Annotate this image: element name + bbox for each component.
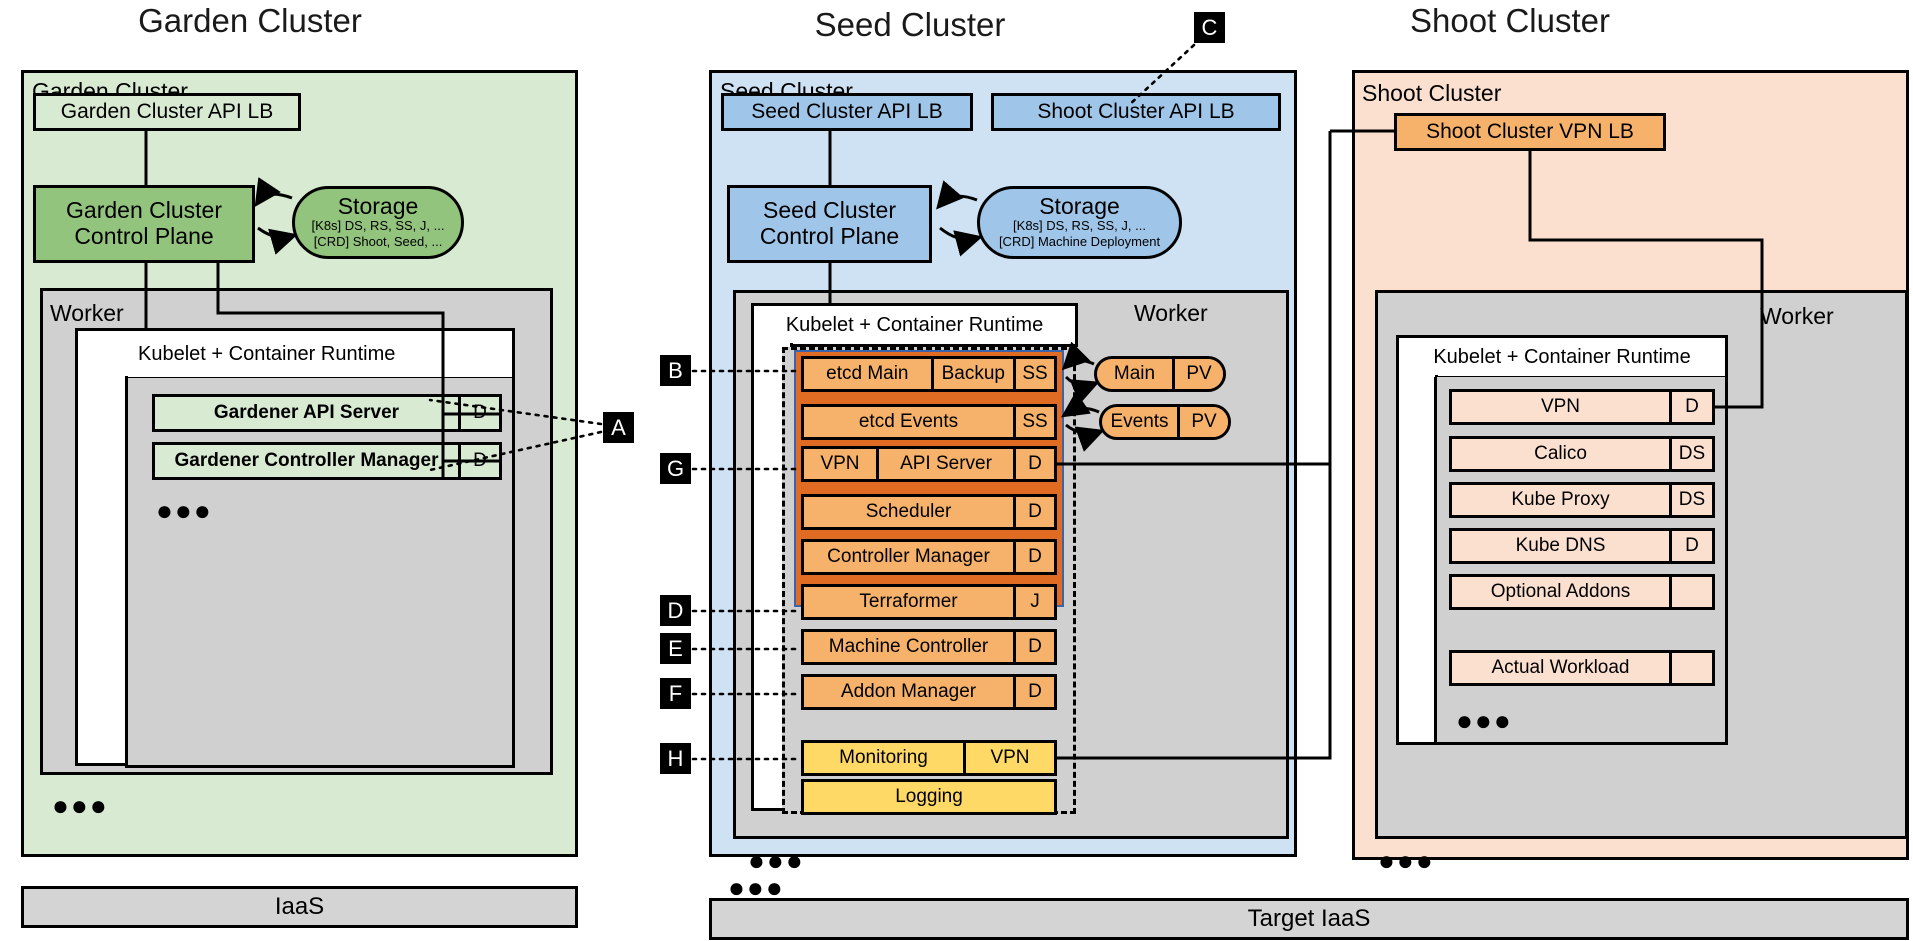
seed-extra-pod-1-segment-0: Logging bbox=[804, 782, 1054, 812]
seed-pod-7-tag: D bbox=[1013, 677, 1054, 707]
seed-extra-pod-1[interactable]: Logging bbox=[801, 779, 1057, 815]
marker-h[interactable]: H bbox=[660, 743, 691, 774]
seed-pod-6-segment-0: Machine Controller bbox=[804, 632, 1013, 662]
garden-pod-1[interactable]: Gardener Controller Manager D bbox=[152, 442, 502, 480]
seed-pod-3[interactable]: Scheduler D bbox=[801, 494, 1057, 530]
seed-pod-4[interactable]: Controller Manager D bbox=[801, 539, 1057, 575]
garden-worker-label: Worker bbox=[50, 300, 124, 327]
seed-worker-ellipsis: ●●● bbox=[748, 855, 805, 866]
marker-d[interactable]: D bbox=[660, 595, 691, 626]
garden-pod-0-name: Gardener API Server bbox=[155, 397, 458, 429]
seed-extra-pod-0-segment-0: Monitoring bbox=[804, 743, 963, 773]
seed-volume-0-tag: PV bbox=[1172, 359, 1223, 389]
seed-pod-0-tag: SS bbox=[1013, 359, 1054, 389]
shoot-pod-0-name: VPN bbox=[1452, 392, 1669, 422]
seed-control-plane[interactable]: Seed Cluster Control Plane bbox=[727, 185, 932, 263]
garden-storage-line1: [K8s] DS, RS, SS, J, ... bbox=[312, 218, 445, 234]
shoot-pod-4[interactable]: Optional Addons bbox=[1449, 574, 1715, 610]
seed-extra-pod-0-segment-1: VPN bbox=[963, 743, 1054, 773]
garden-kubelet-runtime: Kubelet + Container Runtime bbox=[75, 328, 515, 380]
seed-pod-6-tag: D bbox=[1013, 632, 1054, 662]
shoot-pod-1-name: Calico bbox=[1452, 439, 1669, 469]
shoot-pod-3[interactable]: Kube DNS D bbox=[1449, 528, 1715, 564]
seed-volume-1-tag: PV bbox=[1177, 407, 1228, 437]
shoot-pods-ellipsis: ●●● bbox=[1456, 715, 1513, 726]
shoot-workload-name: Actual Workload bbox=[1452, 653, 1669, 683]
seed-pod-4-tag: D bbox=[1013, 542, 1054, 572]
seed-storage-title: Storage bbox=[1039, 195, 1120, 218]
seed-volume-1[interactable]: Events PV bbox=[1099, 404, 1231, 440]
seed-pod-5[interactable]: Terraformer J bbox=[801, 584, 1057, 620]
shoot-pod-2-name: Kube Proxy bbox=[1452, 485, 1669, 515]
shoot-pod-2[interactable]: Kube Proxy DS bbox=[1449, 482, 1715, 518]
marker-g[interactable]: G bbox=[660, 453, 691, 484]
shoot-cluster-ellipsis: ●●● bbox=[1378, 855, 1435, 866]
seed-control-plane-line2: Control Plane bbox=[760, 224, 899, 250]
seed-storage-line1: [K8s] DS, RS, SS, J, ... bbox=[1013, 218, 1146, 234]
marker-c[interactable]: C bbox=[1194, 12, 1225, 43]
marker-f[interactable]: F bbox=[660, 678, 691, 709]
shoot-cluster-title: Shoot Cluster bbox=[1360, 2, 1660, 40]
seed-volume-0[interactable]: Main PV bbox=[1094, 356, 1226, 392]
shoot-pod-1-tag: DS bbox=[1669, 439, 1712, 469]
garden-pod-0[interactable]: Gardener API Server D bbox=[152, 394, 502, 432]
garden-iaas-label: IaaS bbox=[275, 893, 324, 921]
shoot-pod-3-tag: D bbox=[1669, 531, 1712, 561]
shoot-pod-4-name: Optional Addons bbox=[1452, 577, 1669, 607]
seed-extra-pod-0[interactable]: Monitoring VPN bbox=[801, 740, 1057, 776]
seed-pod-4-segment-0: Controller Manager bbox=[804, 542, 1013, 572]
garden-pod-1-name: Gardener Controller Manager bbox=[155, 445, 458, 477]
seed-control-plane-line1: Seed Cluster bbox=[763, 198, 896, 224]
shoot-cluster-panel-label: Shoot Cluster bbox=[1362, 80, 1501, 107]
marker-e[interactable]: E bbox=[660, 633, 691, 664]
shoot-workload[interactable]: Actual Workload bbox=[1449, 650, 1715, 686]
garden-iaas: IaaS bbox=[21, 886, 578, 928]
garden-storage-title: Storage bbox=[338, 195, 419, 218]
seed-kubelet-label: Kubelet + Container Runtime bbox=[786, 314, 1043, 337]
seed-pod-1[interactable]: etcd Events SS bbox=[801, 404, 1057, 440]
garden-pods-ellipsis: ●●● bbox=[156, 505, 213, 516]
seed-storage[interactable]: Storage [K8s] DS, RS, SS, J, ... [CRD] M… bbox=[977, 186, 1182, 259]
seed-iaas: Target IaaS bbox=[709, 898, 1909, 940]
seed-volume-0-name: Main bbox=[1097, 359, 1172, 389]
seed-pod-0-segment-0: etcd Main bbox=[804, 359, 931, 389]
garden-storage-line2: [CRD] Shoot, Seed, ... bbox=[314, 234, 443, 250]
seed-pod-7[interactable]: Addon Manager D bbox=[801, 674, 1057, 710]
garden-control-plane-line2: Control Plane bbox=[74, 224, 213, 250]
seed-api-lb-label: Seed Cluster API LB bbox=[751, 100, 942, 124]
seed-kubelet-runtime: Kubelet + Container Runtime bbox=[751, 303, 1078, 347]
shoot-kubelet-runtime: Kubelet + Container Runtime bbox=[1396, 335, 1728, 379]
garden-worker-ellipsis: ●●● bbox=[52, 800, 109, 811]
shoot-worker-label: Worker bbox=[1760, 303, 1834, 330]
seed-pod-1-segment-0: etcd Events bbox=[804, 407, 1013, 437]
garden-pod-1-tag: D bbox=[458, 445, 499, 477]
garden-pods-container bbox=[125, 378, 515, 768]
garden-cluster-title: Garden Cluster bbox=[100, 2, 400, 40]
seed-api-lb[interactable]: Seed Cluster API LB bbox=[721, 93, 973, 131]
garden-kubelet-label: Kubelet + Container Runtime bbox=[138, 343, 395, 366]
seed-pod-2-segment-0: VPN bbox=[804, 449, 876, 479]
shoot-pod-0[interactable]: VPN D bbox=[1449, 389, 1715, 425]
seed-pod-2[interactable]: VPN API Server D bbox=[801, 446, 1057, 482]
seed-shoot-api-lb[interactable]: Shoot Cluster API LB bbox=[991, 93, 1281, 131]
seed-pod-3-segment-0: Scheduler bbox=[804, 497, 1013, 527]
garden-pod-0-tag: D bbox=[458, 397, 499, 429]
seed-pod-5-tag: J bbox=[1013, 587, 1054, 617]
seed-cluster-title: Seed Cluster bbox=[760, 6, 1060, 44]
seed-pod-6[interactable]: Machine Controller D bbox=[801, 629, 1057, 665]
shoot-pod-2-tag: DS bbox=[1669, 485, 1712, 515]
garden-api-lb[interactable]: Garden Cluster API LB bbox=[33, 93, 301, 131]
shoot-pod-3-name: Kube DNS bbox=[1452, 531, 1669, 561]
seed-worker-label: Worker bbox=[1134, 300, 1208, 327]
shoot-kubelet-left-rail bbox=[1396, 375, 1438, 745]
seed-pod-3-tag: D bbox=[1013, 497, 1054, 527]
shoot-vpn-lb-label: Shoot Cluster VPN LB bbox=[1426, 120, 1634, 144]
seed-shoot-api-lb-label: Shoot Cluster API LB bbox=[1037, 100, 1234, 124]
shoot-pod-1[interactable]: Calico DS bbox=[1449, 436, 1715, 472]
garden-api-lb-label: Garden Cluster API LB bbox=[61, 100, 273, 124]
shoot-pod-0-tag: D bbox=[1669, 392, 1712, 422]
shoot-workload-tag bbox=[1669, 653, 1712, 683]
shoot-vpn-lb[interactable]: Shoot Cluster VPN LB bbox=[1394, 113, 1666, 151]
shoot-kubelet-label: Kubelet + Container Runtime bbox=[1433, 346, 1690, 369]
seed-pod-0-segment-1: Backup bbox=[931, 359, 1013, 389]
marker-b[interactable]: B bbox=[660, 355, 691, 386]
seed-pod-5-segment-0: Terraformer bbox=[804, 587, 1013, 617]
marker-a[interactable]: A bbox=[603, 412, 634, 443]
shoot-pod-4-tag bbox=[1669, 577, 1712, 607]
garden-control-plane[interactable]: Garden Cluster Control Plane bbox=[33, 185, 255, 263]
garden-kubelet-left-rail bbox=[75, 376, 128, 766]
garden-storage[interactable]: Storage [K8s] DS, RS, SS, J, ... [CRD] S… bbox=[292, 186, 464, 259]
garden-control-plane-line1: Garden Cluster bbox=[66, 198, 222, 224]
seed-storage-line2: [CRD] Machine Deployment bbox=[999, 234, 1160, 250]
seed-pod-7-segment-0: Addon Manager bbox=[804, 677, 1013, 707]
seed-iaas-label: Target IaaS bbox=[1248, 905, 1371, 933]
seed-volume-1-name: Events bbox=[1102, 407, 1177, 437]
seed-pod-2-tag: D bbox=[1013, 449, 1054, 479]
seed-pod-0[interactable]: etcd Main Backup SS bbox=[801, 356, 1057, 392]
seed-pod-2-segment-1: API Server bbox=[876, 449, 1013, 479]
seed-cluster-ellipsis: ●●● bbox=[728, 882, 785, 893]
seed-pod-1-tag: SS bbox=[1013, 407, 1054, 437]
